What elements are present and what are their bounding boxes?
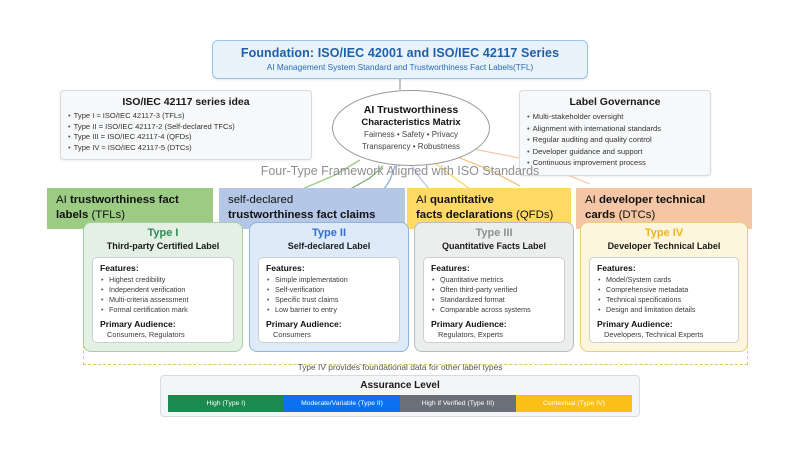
series-idea-list: Type I ≈ ISO/IEC 42117-3 (TFLs) Type II … — [68, 111, 304, 153]
governance-title: Label Governance — [527, 96, 703, 108]
list-item: Alignment with international standards — [527, 123, 703, 135]
type-detail-card: Features: Model/System cards Comprehensi… — [589, 257, 739, 343]
audience-header: Primary Audience: — [100, 319, 226, 330]
type-subtitle: Third-party Certified Label — [84, 241, 242, 252]
list-item: Regular auditing and quality control — [527, 134, 703, 146]
list-item: Developer guidance and support — [527, 146, 703, 158]
audience-value: Consumers — [266, 330, 392, 340]
matrix-line-2: Characteristics Matrix — [361, 117, 460, 129]
list-item: Type II = ISO/IEC 42117-2 (Self-declared… — [68, 122, 304, 133]
audience-header: Primary Audience: — [597, 319, 731, 330]
list-item: Low barrier to entry — [266, 305, 392, 315]
assurance-level-panel: Assurance Level High (Type I) Moderate/V… — [160, 375, 640, 417]
type-card-iv: Type IV Developer Technical Label Featur… — [580, 222, 748, 352]
list-item: Technical specifications — [597, 295, 731, 305]
list-item: Comparable across systems — [431, 305, 557, 315]
type-label: Type II — [250, 227, 408, 240]
foundation-box: Foundation: ISO/IEC 42001 and ISO/IEC 42… — [212, 40, 588, 79]
list-item: Formal certification mark — [100, 305, 226, 315]
assurance-segment-high-if-verified: High if Verified (Type III) — [400, 395, 516, 412]
features-list: Quantitative metrics Often third-party v… — [431, 275, 557, 315]
assurance-bar: High (Type I) Moderate/Variable (Type II… — [168, 395, 632, 412]
banner-lead: AI — [56, 194, 70, 206]
banner-strong: trustworthiness fact — [70, 194, 179, 206]
trustworthiness-matrix-ellipse: AI Trustworthiness Characteristics Matri… — [332, 90, 490, 166]
assurance-segment-contextual: Contextual (Type IV) — [516, 395, 632, 412]
audience-value: Developers, Technical Experts — [597, 330, 731, 340]
list-item: Comprehensive metadata — [597, 285, 731, 295]
features-list: Highest credibility Independent verifica… — [100, 275, 226, 315]
list-item: Specific trust claims — [266, 295, 392, 305]
banner-paren: (QFDs) — [513, 209, 554, 221]
list-item: Multi-stakeholder oversight — [527, 111, 703, 123]
assurance-segment-high: High (Type I) — [168, 395, 284, 412]
type-label: Type I — [84, 227, 242, 240]
type-card-iii: Type III Quantitative Facts Label Featur… — [414, 222, 574, 352]
list-item: Type IV ≈ ISO/IEC 42117-5 (DTCs) — [68, 143, 304, 154]
banner-strong: quantitative — [430, 194, 494, 206]
type-subtitle: Self-declared Label — [250, 241, 408, 252]
type-subtitle: Quantitative Facts Label — [415, 241, 573, 252]
banner-strong: developer technical — [599, 194, 705, 206]
banner-strong: trustworthiness fact claims — [228, 209, 376, 221]
foundation-title: Foundation: ISO/IEC 42001 and ISO/IEC 42… — [241, 46, 559, 60]
list-item: Self-verification — [266, 285, 392, 295]
banner-lead: AI — [416, 194, 430, 206]
audience-value: Regulators, Experts — [431, 330, 557, 340]
matrix-line-1: AI Trustworthiness — [364, 104, 459, 117]
assurance-title: Assurance Level — [161, 380, 639, 391]
list-item: Design and limitation details — [597, 305, 731, 315]
type-label: Type III — [415, 227, 573, 240]
diagram-canvas: Foundation: ISO/IEC 42001 and ISO/IEC 42… — [0, 0, 800, 450]
list-item: Often third-party verified — [431, 285, 557, 295]
framework-caption: Four-Type Framework Aligned with ISO Sta… — [228, 164, 572, 178]
banner-paren: (TFLs) — [88, 209, 125, 221]
features-header: Features: — [597, 263, 731, 274]
audience-value: Consumers, Regulators — [100, 330, 226, 340]
series-idea-box: ISO/IEC 42117 series idea Type I ≈ ISO/I… — [60, 90, 312, 160]
governance-list: Multi-stakeholder oversight Alignment wi… — [527, 111, 703, 169]
features-header: Features: — [431, 263, 557, 274]
type-detail-card: Features: Highest credibility Independen… — [92, 257, 234, 343]
banner-lead: AI — [585, 194, 599, 206]
banner-paren: (DTCs) — [615, 209, 655, 221]
banner-tail: cards — [585, 209, 615, 221]
list-item: Highest credibility — [100, 275, 226, 285]
matrix-line-3: Fairness • Safety • Privacy — [364, 130, 458, 141]
features-header: Features: — [266, 263, 392, 274]
list-item: Type III = ISO/IEC 42117-4 (QFDs) — [68, 132, 304, 143]
features-list: Simple implementation Self-verification … — [266, 275, 392, 315]
type-detail-card: Features: Simple implementation Self-ver… — [258, 257, 400, 343]
assurance-segment-moderate: Moderate/Variable (Type II) — [284, 395, 400, 412]
audience-header: Primary Audience: — [431, 319, 557, 330]
list-item: Independent verification — [100, 285, 226, 295]
audience-header: Primary Audience: — [266, 319, 392, 330]
features-header: Features: — [100, 263, 226, 274]
features-list: Model/System cards Comprehensive metadat… — [597, 275, 731, 315]
list-item: Type I ≈ ISO/IEC 42117-3 (TFLs) — [68, 111, 304, 122]
list-item: Model/System cards — [597, 275, 731, 285]
type-label: Type IV — [581, 227, 747, 240]
list-item: Simple implementation — [266, 275, 392, 285]
banner-tail: labels — [56, 209, 88, 221]
type-detail-card: Features: Quantitative metrics Often thi… — [423, 257, 565, 343]
type-card-i: Type I Third-party Certified Label Featu… — [83, 222, 243, 352]
matrix-line-4: Transparency • Robustness — [362, 142, 460, 153]
series-idea-title: ISO/IEC 42117 series idea — [68, 96, 304, 108]
type-subtitle: Developer Technical Label — [581, 241, 747, 252]
list-item: Quantitative metrics — [431, 275, 557, 285]
foundational-note: Type IV provides foundational data for o… — [200, 362, 600, 372]
list-item: Multi-criteria assessment — [100, 295, 226, 305]
label-governance-box: Label Governance Multi-stakeholder overs… — [519, 90, 711, 176]
banner-tail: facts declarations — [416, 209, 513, 221]
banner-lead: self-declared — [228, 194, 293, 206]
foundation-subtitle: AI Management System Standard and Trustw… — [267, 61, 534, 73]
list-item: Standardized format — [431, 295, 557, 305]
type-card-ii: Type II Self-declared Label Features: Si… — [249, 222, 409, 352]
